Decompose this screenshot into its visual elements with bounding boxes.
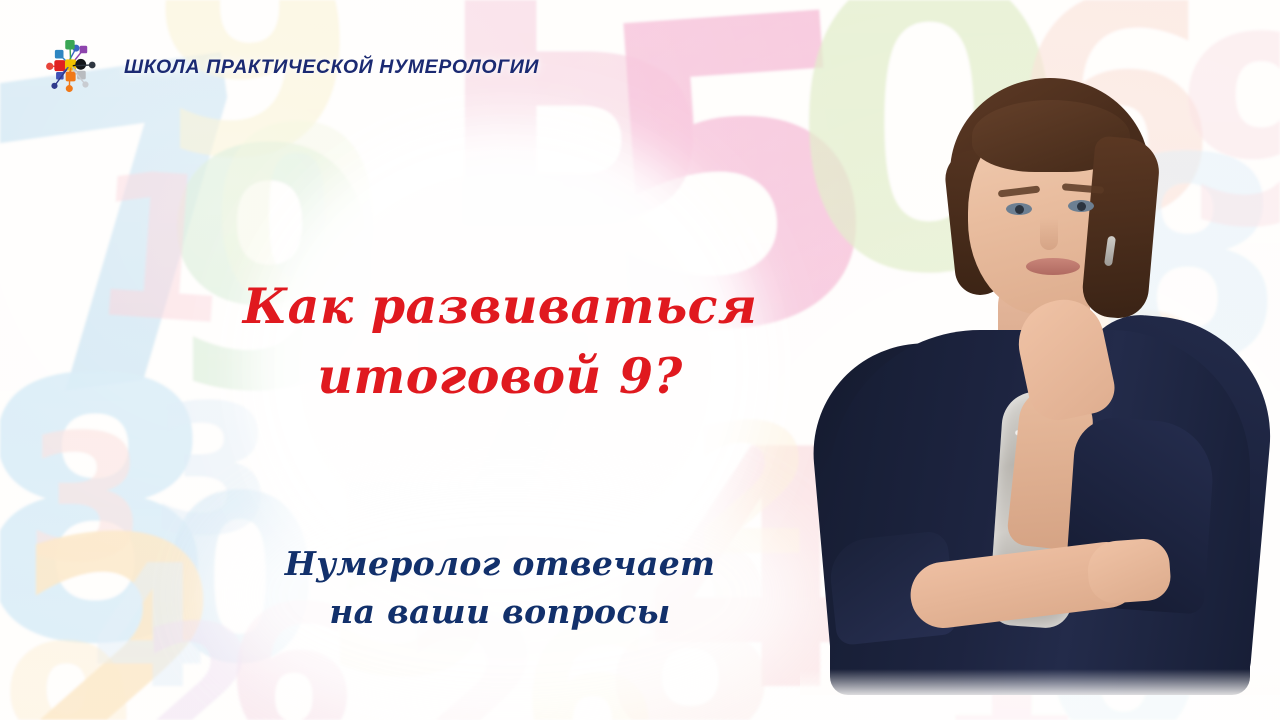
pin-burst-icon xyxy=(40,36,106,98)
logo-pin-head-7 xyxy=(75,59,86,70)
presenter-pupil-left xyxy=(1015,205,1024,214)
logo-pin-head-5 xyxy=(54,60,65,71)
slide-subtitle: Нумеролог отвечает на ваши вопросы xyxy=(190,540,810,636)
logo-pin-head-3 xyxy=(80,46,88,54)
logo-pin-head-4 xyxy=(46,63,53,70)
subtitle-line-2: на ваши вопросы xyxy=(190,588,810,636)
presenter-photo xyxy=(800,0,1280,695)
logo-pin-head-12 xyxy=(51,83,57,89)
school-logo-icon xyxy=(40,36,106,98)
presenter-nose xyxy=(1040,218,1058,250)
presenter-hand-crossed xyxy=(1086,537,1172,605)
logo-pin-head-1 xyxy=(55,50,64,59)
presenter-bottom-fade xyxy=(800,669,1280,695)
title-line-1: Как развиваться xyxy=(190,272,810,342)
brand-header: ШКОЛА ПРАКТИЧЕСКОЙ НУМЕРОЛОГИИ xyxy=(40,36,539,98)
presenter-pupil-right xyxy=(1077,202,1086,211)
logo-pin-head-8 xyxy=(89,62,96,69)
subtitle-line-1: Нумеролог отвечает xyxy=(190,540,810,588)
presenter-hair-right xyxy=(1080,135,1161,320)
logo-pin-head-2 xyxy=(65,40,74,49)
logo-pin-head-13 xyxy=(66,85,73,92)
bg-number-9-28: 9 xyxy=(0,640,139,720)
presenter-lips xyxy=(1026,258,1080,275)
logo-pin-head-14 xyxy=(82,81,88,87)
title-line-2: итоговой 9? xyxy=(190,342,810,412)
slide-title: Как развиваться итоговой 9? xyxy=(190,272,810,411)
logo-pin-head-10 xyxy=(66,71,76,81)
slide-canvas: 79Ь5069183302462048263897510926 xyxy=(0,0,1280,720)
brand-name: ШКОЛА ПРАКТИЧЕСКОЙ НУМЕРОЛОГИИ xyxy=(124,56,539,79)
